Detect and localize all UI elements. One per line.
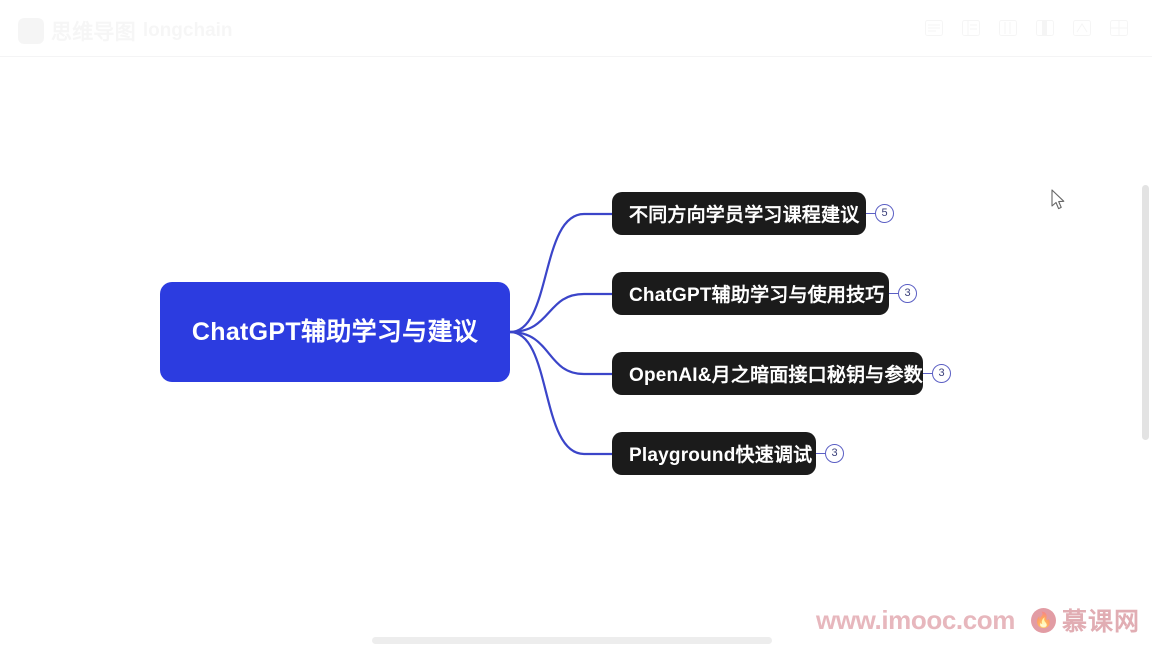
app-brand: 思维导图 longchain: [18, 16, 233, 46]
split-view-icon[interactable]: [1034, 17, 1056, 39]
badge-connector-stub: [889, 293, 898, 294]
root-node-label: ChatGPT辅助学习与建议: [192, 316, 478, 348]
app-header: 思维导图 longchain: [0, 0, 1152, 57]
mindmap-branch-node[interactable]: OpenAI&月之暗面接口秘钥与参数: [612, 352, 923, 395]
view-toolbar: [923, 17, 1130, 39]
branch-count-badge[interactable]: 3: [898, 284, 917, 303]
grid-view-icon[interactable]: [1108, 17, 1130, 39]
branch-node-label: Playground快速调试: [629, 440, 812, 467]
vertical-scrollbar-thumb[interactable]: [1142, 185, 1149, 440]
mindmap-branch-node[interactable]: Playground快速调试: [612, 432, 816, 475]
branch-count-badge[interactable]: 5: [875, 204, 894, 223]
fishbone-view-icon[interactable]: [1071, 17, 1093, 39]
brand-name-label: 思维导图: [51, 16, 136, 46]
vertical-scrollbar-track[interactable]: [1142, 57, 1151, 631]
branch-node-label: OpenAI&月之暗面接口秘钥与参数: [629, 360, 923, 387]
branch-node-label: 不同方向学员学习课程建议: [629, 200, 859, 227]
horizontal-scrollbar-thumb[interactable]: [372, 637, 772, 644]
badge-connector-stub: [866, 213, 875, 214]
mindmap-branch-node[interactable]: 不同方向学员学习课程建议: [612, 192, 866, 235]
badge-connector-stub: [923, 373, 932, 374]
outline-view-icon[interactable]: [923, 17, 945, 39]
branch-count-badge[interactable]: 3: [825, 444, 844, 463]
app-logo-icon: [18, 18, 44, 44]
mindmap-canvas[interactable]: ChatGPT辅助学习与建议 不同方向学员学习课程建议 5 ChatGPT辅助学…: [0, 57, 1152, 646]
brand-sub-label: longchain: [143, 20, 233, 42]
list-view-icon[interactable]: [960, 17, 982, 39]
mindmap-app-window: 思维导图 longchain: [0, 0, 1152, 646]
structure-view-icon[interactable]: [997, 17, 1019, 39]
mindmap-branch-node[interactable]: ChatGPT辅助学习与使用技巧: [612, 272, 889, 315]
mindmap-root-node[interactable]: ChatGPT辅助学习与建议: [160, 282, 510, 382]
badge-connector-stub: [816, 453, 825, 454]
branch-node-label: ChatGPT辅助学习与使用技巧: [629, 280, 884, 307]
branch-count-badge[interactable]: 3: [932, 364, 951, 383]
